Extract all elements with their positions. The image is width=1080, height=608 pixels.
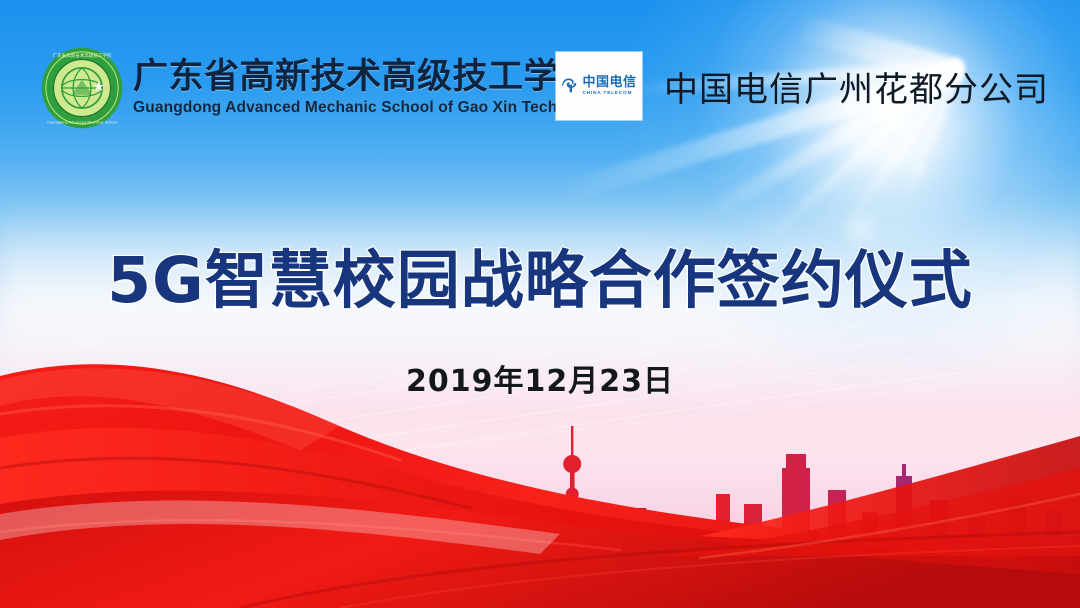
school-seal-icon: 广东省高新技术高级技工学校 Guangdong Advanced Mechani… xyxy=(40,46,124,130)
telecom-logo-cn: 中国电信 xyxy=(582,76,636,89)
partner-company-name: 中国电信广州花都分公司 xyxy=(664,62,1049,111)
svg-text:Guangdong Advanced Mechanic Sc: Guangdong Advanced Mechanic School xyxy=(47,120,116,124)
partner-branding: 中国电信 CHINA TELECOM 中国电信广州花都分公司 xyxy=(556,52,1049,120)
china-telecom-logo-icon: 中国电信 CHINA TELECOM xyxy=(556,52,642,120)
school-name-cn: 广东省高新技术高级技工学校 xyxy=(133,60,595,95)
telecom-logo-en: CHINA TELECOM xyxy=(582,91,636,96)
title-area: 5G智慧校园战略合作签约仪式 xyxy=(0,248,1080,314)
school-name-en: Guangdong Advanced Mechanic School of Ga… xyxy=(133,100,595,116)
school-branding: 广东省高新技术高级技工学校 Guangdong Advanced Mechani… xyxy=(40,46,595,130)
slide-header: 广东省高新技术高级技工学校 Guangdong Advanced Mechani… xyxy=(0,0,1080,150)
telecom-mark-icon xyxy=(561,77,579,95)
event-date: 2019年12月23日 xyxy=(0,356,1080,400)
page-title: 5G智慧校园战略合作签约仪式 xyxy=(107,248,973,314)
presentation-slide: 广东省高新技术高级技工学校 Guangdong Advanced Mechani… xyxy=(0,0,1080,608)
